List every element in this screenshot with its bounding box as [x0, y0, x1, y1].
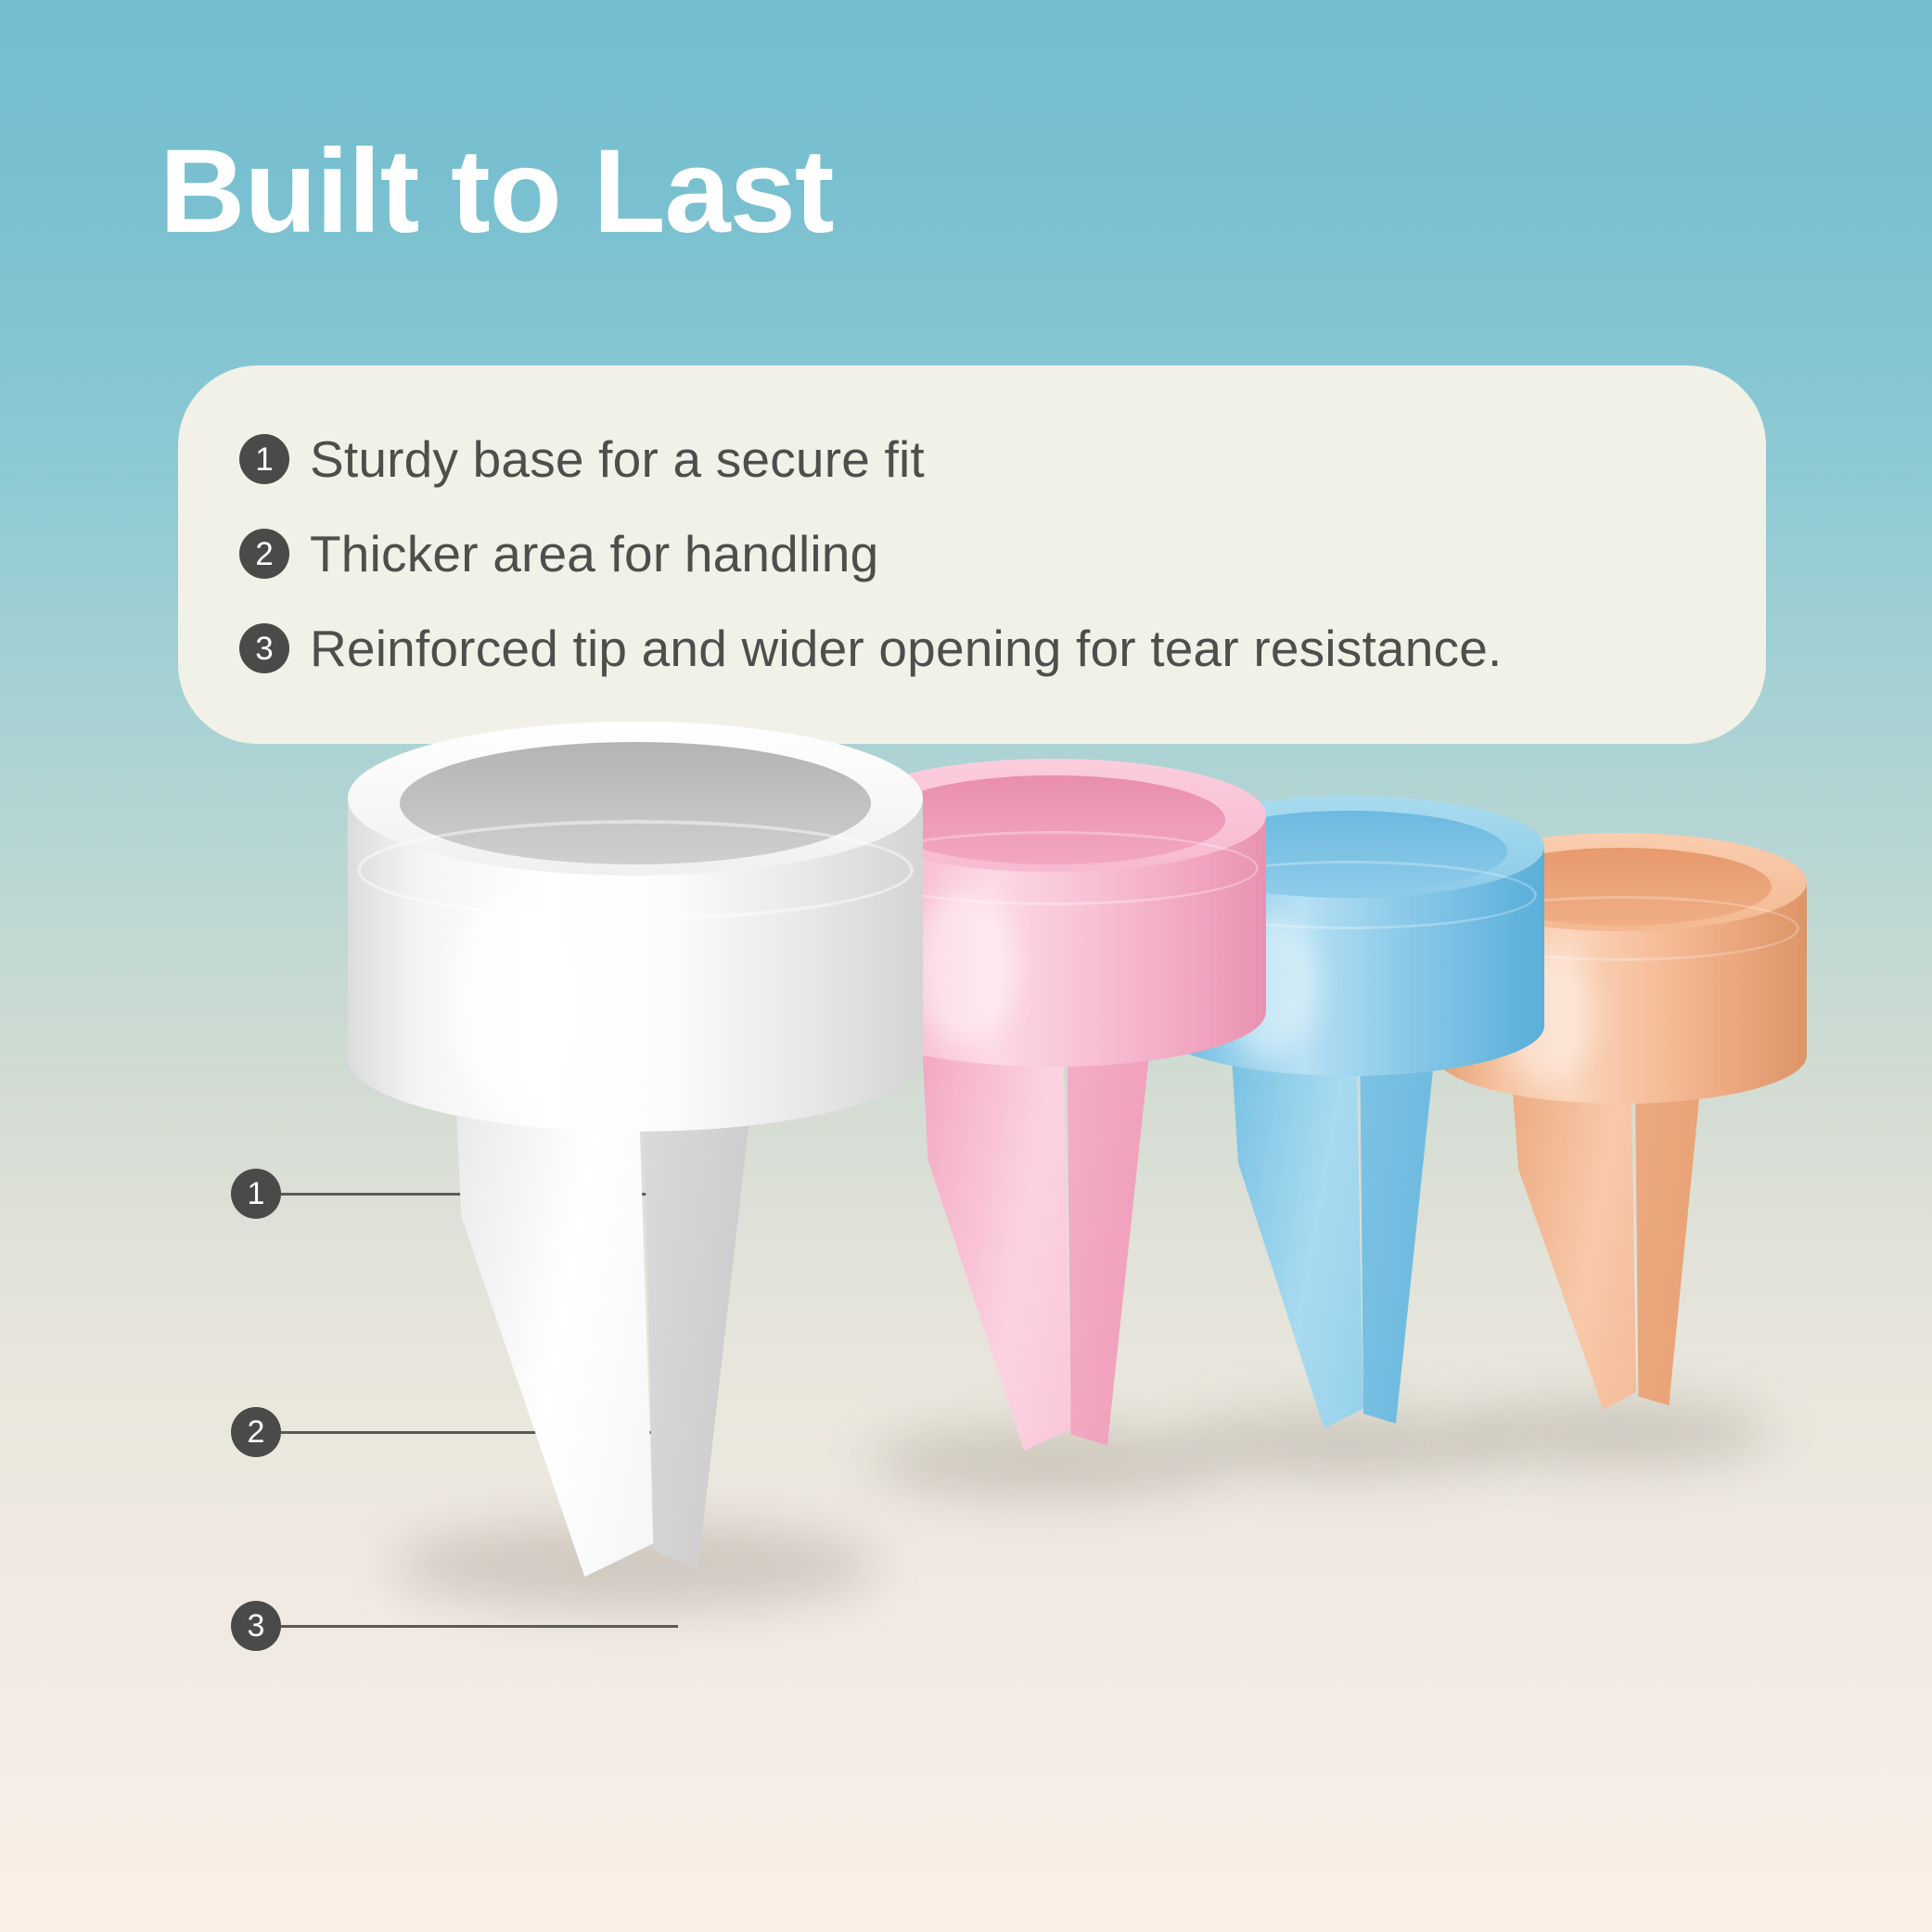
feature-label-2: Thicker area for handling [310, 524, 878, 583]
callout-marker-3: 3 [231, 1601, 678, 1651]
callout-badge-1: 1 [231, 1169, 281, 1219]
cone-collar [348, 723, 923, 1132]
callout-badge-2: 2 [231, 1407, 281, 1457]
page-title: Built to Last [160, 130, 834, 254]
collar-gloss [914, 889, 1017, 1046]
feature-list: 1 Sturdy base for a secure fit 2 Thicker… [239, 412, 1729, 696]
callout-leader-line-3 [281, 1625, 678, 1628]
list-item: 3 Reinforced tip and wider opening for t… [239, 601, 1729, 696]
callout-badge-3: 3 [231, 1601, 281, 1651]
feature-card: 1 Sturdy base for a secure fit 2 Thicker… [178, 365, 1766, 744]
number-badge-1: 1 [239, 434, 289, 484]
feature-label-3: Reinforced tip and wider opening for tea… [310, 619, 1502, 678]
number-badge-3: 3 [239, 623, 289, 673]
number-badge-2: 2 [239, 529, 289, 579]
list-item: 2 Thicker area for handling [239, 506, 1729, 601]
white-cone [348, 723, 923, 1753]
collar-gloss [448, 896, 587, 1109]
infographic-poster: Built to Last 1 Sturdy base for a secure… [0, 0, 1932, 1932]
feature-label-1: Sturdy base for a secure fit [310, 429, 925, 489]
collar-ridge [357, 820, 914, 920]
list-item: 1 Sturdy base for a secure fit [239, 412, 1729, 506]
